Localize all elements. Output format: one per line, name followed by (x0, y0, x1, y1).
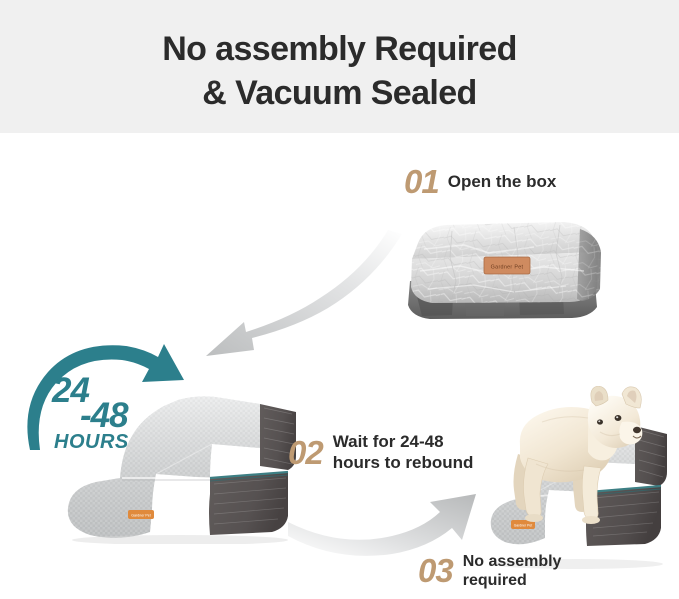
package-right-texture (577, 229, 601, 301)
stairs-to-dog-arrow (288, 478, 493, 560)
pet-stairs-left-image: Gardner Pet (60, 392, 308, 544)
vacuum-sealed-package-image: Gardner Pet (394, 219, 609, 322)
step-03-label: 03 No assembly required (418, 552, 561, 590)
dog-front-paw (582, 516, 600, 524)
package-brand-label: Gardner Pet (484, 257, 530, 274)
step-01-text: Open the box (448, 172, 557, 192)
step-02-number: 02 (288, 434, 323, 472)
step-01-number: 01 (404, 163, 439, 201)
page-title-line-1: No assembly Required (0, 28, 679, 72)
dog-eye-right-glint (616, 416, 618, 418)
step-02-text: Wait for 24-48 hours to rebound (333, 432, 474, 473)
dog-hind-paw (525, 514, 543, 522)
french-bulldog-image (496, 386, 646, 531)
stairs-left-brand-tag: Gardner Pet (128, 510, 154, 519)
page-title-line-2: & Vacuum Sealed (0, 72, 679, 116)
stairs-left-brand-tag-text: Gardner Pet (131, 514, 151, 518)
infographic-root: No assembly Required & Vacuum Sealed (0, 0, 679, 599)
page-title: No assembly Required & Vacuum Sealed (0, 28, 679, 115)
step-03-number: 03 (418, 552, 453, 590)
arrow-1-shape (206, 230, 402, 356)
package-brand-label-text: Gardner Pet (491, 265, 524, 271)
step-02-label: 02 Wait for 24-48 hours to rebound (288, 432, 473, 473)
step-01-label: 01 Open the box (404, 163, 556, 201)
dog-eye-left-glint (598, 420, 600, 422)
dog-eye-left (597, 419, 603, 424)
box-to-stairs-arrow (178, 228, 403, 360)
step-03-text: No assembly required (463, 552, 562, 590)
dog-nose (633, 427, 641, 433)
dog-front-leg-near (582, 466, 601, 519)
dog-eye-right (615, 415, 622, 421)
arrow-2-shape (288, 494, 476, 556)
